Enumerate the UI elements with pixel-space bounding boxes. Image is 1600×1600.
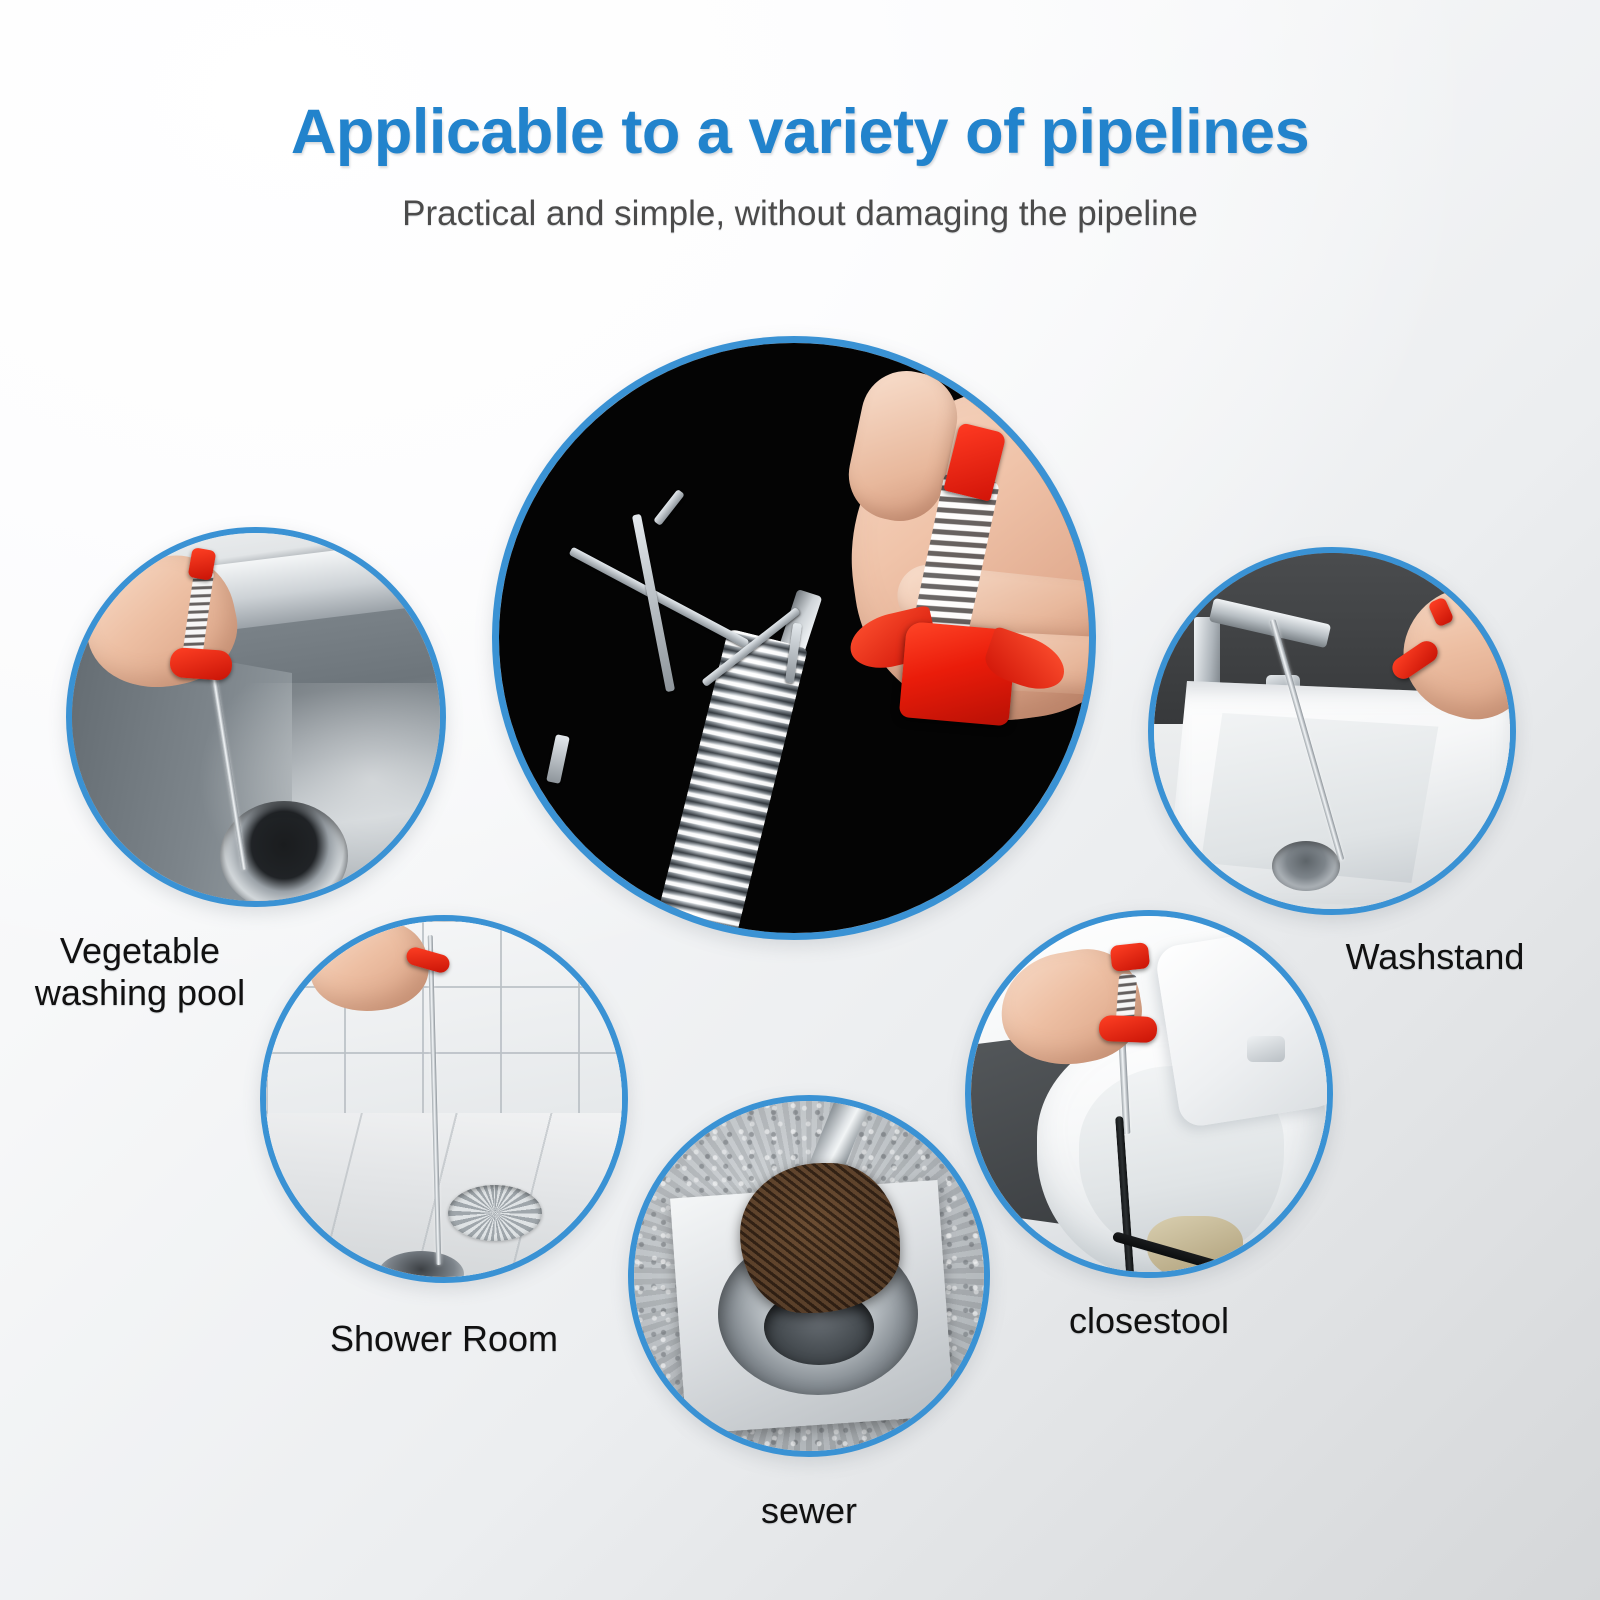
hair-clog-debris	[740, 1163, 900, 1313]
label-closestool: closestool	[965, 1300, 1333, 1342]
scene-toilet-bowl	[971, 916, 1327, 1272]
label-sewer: sewer	[628, 1490, 990, 1532]
header: Applicable to a variety of pipelines Pra…	[0, 0, 1600, 234]
handle-red-grip	[843, 606, 1057, 733]
label-vegetable-washing-pool: Vegetable washing pool	[0, 930, 280, 1014]
circle-shower-room[interactable]	[260, 915, 628, 1283]
circle-sewer[interactable]	[628, 1095, 990, 1457]
basin-drain-hole	[1272, 841, 1340, 891]
tool-claw-hook-top-tip	[653, 489, 685, 526]
scene-white-basin	[1154, 553, 1510, 909]
toilet-seat-lid	[1154, 921, 1333, 1128]
page-subtitle: Practical and simple, without damaging t…	[0, 194, 1600, 234]
tool-handle-grip	[169, 647, 233, 681]
shower-floor-drain	[448, 1185, 542, 1241]
circle-washstand[interactable]	[1148, 547, 1516, 915]
toilet-seat-hinge	[1247, 1036, 1285, 1062]
tool-handle-grip	[1099, 1015, 1158, 1043]
shower-floor	[266, 1113, 622, 1277]
circle-closestool[interactable]	[965, 910, 1333, 1278]
scene-steel-sink	[72, 533, 440, 901]
tool-claw-hook-left-tip	[546, 734, 570, 784]
circle-vegetable-washing-pool[interactable]	[66, 527, 446, 907]
scene-product-on-black	[499, 343, 1089, 933]
page-title: Applicable to a variety of pipelines	[0, 96, 1600, 168]
label-shower-room: Shower Room	[262, 1318, 626, 1360]
scene-shower-floor	[266, 921, 622, 1277]
scene-sewer-drain	[634, 1101, 984, 1451]
tool-handle-cap	[1110, 942, 1151, 972]
circle-product-main[interactable]	[492, 336, 1096, 940]
